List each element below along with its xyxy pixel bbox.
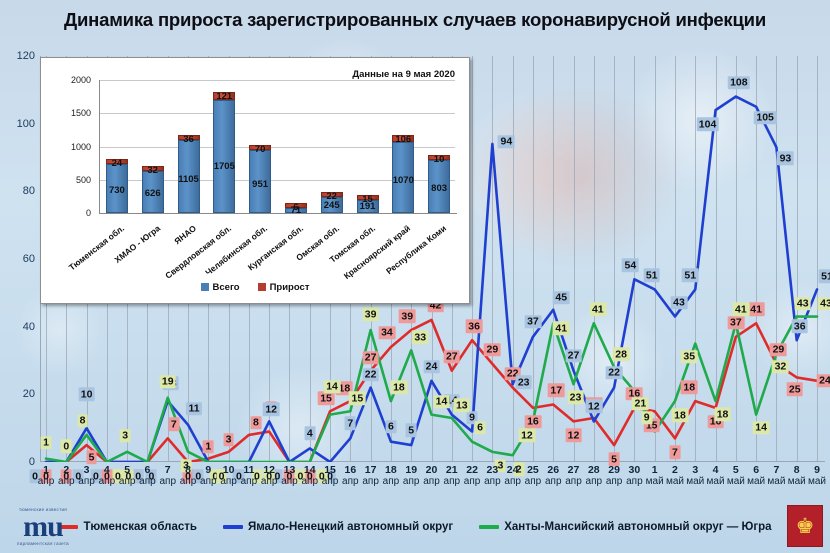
x-tick-day: 20 xyxy=(426,464,438,476)
data-point-label: 43 xyxy=(671,296,688,310)
x-axis-tick: 2май xyxy=(666,464,684,488)
logo-bottom-text: парламентская газета xyxy=(17,542,69,547)
x-tick-month: апр xyxy=(383,476,400,488)
x-axis-tick: 4апр xyxy=(99,464,116,488)
inset-legend-item: Всего xyxy=(201,282,240,293)
inset-y-axis-tick: 1000 xyxy=(41,142,91,152)
data-point-label: 23 xyxy=(567,390,584,404)
x-tick-day: 19 xyxy=(405,464,417,476)
x-tick-month: апр xyxy=(464,476,481,488)
data-point-label: 6 xyxy=(385,420,396,434)
x-axis-tick: 19апр xyxy=(403,464,420,488)
x-tick-month: апр xyxy=(38,476,55,488)
x-tick-month: апр xyxy=(58,476,75,488)
x-tick-month: май xyxy=(767,476,785,488)
data-point-label: 25 xyxy=(786,383,803,397)
inset-bar-group xyxy=(357,80,379,213)
x-tick-day: 21 xyxy=(446,464,458,476)
data-point-label: 24 xyxy=(423,360,440,374)
x-tick-month: апр xyxy=(362,476,379,488)
x-tick-day: 2 xyxy=(63,464,69,476)
x-axis-tick: 9апр xyxy=(200,464,217,488)
x-tick-day: 25 xyxy=(527,464,539,476)
data-point-label: 45 xyxy=(553,291,570,305)
inset-bar-group xyxy=(285,80,307,213)
crest-glyph: ♚ xyxy=(796,516,815,537)
bar-total xyxy=(213,100,235,213)
x-tick-day: 11 xyxy=(243,464,254,476)
x-tick-month: апр xyxy=(99,476,116,488)
bar-increase-value: 121 xyxy=(216,91,232,102)
data-point-label: 8 xyxy=(250,416,261,430)
x-axis-tick: 8апр xyxy=(180,464,197,488)
data-point-label: 21 xyxy=(632,397,649,411)
coat-of-arms-icon: ♚ xyxy=(787,505,823,547)
data-point-label: 1 xyxy=(41,436,52,450)
y-axis-tick: 60 xyxy=(23,253,35,265)
data-point-label: 16 xyxy=(525,415,542,429)
x-tick-month: апр xyxy=(423,476,440,488)
x-tick-day: 8 xyxy=(794,464,800,476)
legend-color-swatch xyxy=(223,525,243,529)
data-point-label: 7 xyxy=(670,446,681,460)
x-tick-day: 22 xyxy=(466,464,478,476)
x-axis-tick: 11апр xyxy=(241,464,258,488)
data-point-label: 37 xyxy=(727,316,744,330)
inset-y-axis-tick: 2000 xyxy=(41,75,91,85)
x-axis-tick: 29апр xyxy=(606,464,623,488)
inset-bar-chart: Данные на 9 мая 2020 0500100015002000730… xyxy=(40,57,470,304)
x-tick-month: апр xyxy=(484,476,501,488)
legend-item: Ханты-Мансийский автономный округ — Югра xyxy=(479,521,771,533)
data-point-label: 54 xyxy=(622,259,639,273)
x-tick-day: 13 xyxy=(284,464,296,476)
x-tick-day: 18 xyxy=(385,464,397,476)
x-tick-day: 6 xyxy=(753,464,759,476)
x-tick-day: 6 xyxy=(145,464,151,476)
logo-tyumenskie-izvestiya: тюменские известия mu парламентская газе… xyxy=(6,504,80,550)
x-tick-day: 29 xyxy=(608,464,620,476)
data-point-label: 108 xyxy=(728,76,751,90)
y-axis-tick: 120 xyxy=(17,50,35,62)
x-tick-month: апр xyxy=(586,476,603,488)
y-axis-tick: 20 xyxy=(23,388,35,400)
x-tick-day: 30 xyxy=(629,464,641,476)
data-point-label: 22 xyxy=(606,366,623,380)
x-tick-day: 23 xyxy=(487,464,499,476)
data-point-label: 0 xyxy=(61,439,72,453)
x-axis-tick: 6май xyxy=(747,464,765,488)
x-tick-month: апр xyxy=(444,476,461,488)
data-point-label: 5 xyxy=(86,450,97,464)
data-point-label: 32 xyxy=(772,360,789,374)
data-point-label: 93 xyxy=(777,152,794,166)
legend-swatch xyxy=(201,283,209,291)
x-axis-tick: 18апр xyxy=(383,464,400,488)
x-tick-day: 24 xyxy=(507,464,519,476)
data-point-label: 27 xyxy=(362,351,379,365)
y-axis-tick: 40 xyxy=(23,321,35,333)
inset-bar-group xyxy=(392,80,414,213)
data-point-label: 41 xyxy=(589,303,606,317)
data-point-label: 51 xyxy=(643,269,660,283)
x-tick-day: 10 xyxy=(223,464,235,476)
x-tick-day: 9 xyxy=(205,464,211,476)
x-axis-tick: 12апр xyxy=(261,464,278,488)
bar-total-value: 951 xyxy=(252,179,268,190)
data-point-label: 19 xyxy=(159,375,176,389)
x-axis-tick: 22апр xyxy=(464,464,481,488)
data-point-label: 3 xyxy=(223,433,234,447)
data-point-label: 27 xyxy=(443,350,460,364)
page-title-bar: Динамика прироста зарегистрированных слу… xyxy=(0,0,830,40)
data-point-label: 43 xyxy=(794,297,811,311)
x-tick-day: 5 xyxy=(124,464,130,476)
data-point-label: 41 xyxy=(553,322,570,336)
legend-label: Тюменская область xyxy=(83,521,196,533)
legend-label: Ханты-Мансийский автономный округ — Югра xyxy=(504,521,771,533)
bar-total-value: 730 xyxy=(109,185,125,196)
data-point-label: 39 xyxy=(362,307,379,321)
bar-total-value: 626 xyxy=(145,188,161,199)
page-title: Динамика прироста зарегистрированных слу… xyxy=(64,9,766,31)
data-point-label: 39 xyxy=(399,309,416,323)
x-tick-month: апр xyxy=(281,476,298,488)
x-tick-month: апр xyxy=(525,476,542,488)
data-point-label: 13 xyxy=(453,398,470,412)
data-point-label: 11 xyxy=(186,402,202,416)
legend-item: Ямало-Ненецкий автономный округ xyxy=(223,521,453,533)
x-tick-day: 27 xyxy=(568,464,580,476)
x-axis-tick: 16апр xyxy=(342,464,359,488)
data-point-label: 36 xyxy=(466,319,483,333)
x-axis-tick: 4май xyxy=(707,464,725,488)
inset-y-axis-line xyxy=(99,80,100,213)
x-tick-month: апр xyxy=(159,476,176,488)
inset-legend-item: Прирост xyxy=(258,282,310,293)
data-point-label: 41 xyxy=(732,303,749,317)
inset-y-axis-tick: 1500 xyxy=(41,108,91,118)
data-point-label: 12 xyxy=(565,429,582,443)
x-tick-month: май xyxy=(747,476,765,488)
data-point-label: 43 xyxy=(818,297,830,311)
x-axis-tick: 5апр xyxy=(119,464,136,488)
x-tick-month: апр xyxy=(342,476,359,488)
data-point-label: 5 xyxy=(406,423,417,437)
x-axis-tick: 3апр xyxy=(78,464,95,488)
bar-increase-value: 6 xyxy=(293,202,298,213)
bar-increase-value: 32 xyxy=(147,165,158,176)
x-tick-month: апр xyxy=(180,476,197,488)
x-axis-tick: 7май xyxy=(767,464,785,488)
data-point-label: 28 xyxy=(613,348,630,362)
x-tick-day: 28 xyxy=(588,464,600,476)
x-axis-tick: 7апр xyxy=(159,464,176,488)
data-point-label: 7 xyxy=(345,417,356,431)
bar-increase-value: 10 xyxy=(434,154,445,165)
data-point-label: 7 xyxy=(168,418,179,432)
x-axis-tick: 27апр xyxy=(565,464,582,488)
data-point-label: 35 xyxy=(681,350,698,364)
x-tick-day: 4 xyxy=(104,464,110,476)
x-tick-month: апр xyxy=(626,476,643,488)
data-point-label: 14 xyxy=(753,421,770,435)
x-axis-tick: 2апр xyxy=(58,464,75,488)
data-point-label: 18 xyxy=(714,407,731,421)
data-point-label: 27 xyxy=(565,349,582,363)
data-point-label: 29 xyxy=(484,343,501,357)
data-point-label: 104 xyxy=(696,117,719,131)
x-tick-month: апр xyxy=(200,476,217,488)
bar-total-value: 803 xyxy=(431,183,447,194)
data-point-label: 23 xyxy=(515,375,532,389)
inset-x-axis-line xyxy=(99,213,457,214)
x-axis-tick: 24апр xyxy=(504,464,521,488)
x-tick-day: 2 xyxy=(672,464,678,476)
x-axis-tick: 6апр xyxy=(139,464,156,488)
chart-legend: Тюменская областьЯмало-Ненецкий автономн… xyxy=(0,501,830,553)
x-tick-month: апр xyxy=(322,476,339,488)
inset-bar-group xyxy=(178,80,200,213)
bar-increase-value: 70 xyxy=(255,144,266,155)
x-tick-month: май xyxy=(646,476,664,488)
logo-monogram: mu xyxy=(23,512,63,542)
x-axis-tick: 20апр xyxy=(423,464,440,488)
x-tick-day: 17 xyxy=(365,464,377,476)
x-axis-tick: 30апр xyxy=(626,464,643,488)
data-point-label: 12 xyxy=(519,429,536,443)
x-tick-month: апр xyxy=(403,476,420,488)
data-point-label: 1 xyxy=(203,440,214,454)
x-tick-month: апр xyxy=(545,476,562,488)
data-point-label: 15 xyxy=(318,392,335,406)
x-axis-tick: 26апр xyxy=(545,464,562,488)
x-axis-tick: 17апр xyxy=(362,464,379,488)
x-tick-day: 7 xyxy=(165,464,171,476)
bar-total-value: 1705 xyxy=(214,161,235,172)
x-tick-month: апр xyxy=(78,476,95,488)
x-tick-day: 26 xyxy=(547,464,559,476)
x-tick-month: май xyxy=(707,476,725,488)
x-axis-tick: 3май xyxy=(686,464,704,488)
x-tick-month: май xyxy=(788,476,806,488)
x-tick-day: 12 xyxy=(263,464,275,476)
bar-total-value: 1105 xyxy=(178,174,199,185)
x-axis-tick: 25апр xyxy=(525,464,542,488)
data-point-label: 51 xyxy=(819,270,830,284)
y-axis-tick: 0 xyxy=(29,456,35,468)
y-axis-tick: 80 xyxy=(23,185,35,197)
data-point-label: 10 xyxy=(78,387,95,401)
x-tick-month: апр xyxy=(504,476,521,488)
x-axis-tick: 21апр xyxy=(444,464,461,488)
x-tick-month: апр xyxy=(301,476,318,488)
x-tick-day: 4 xyxy=(713,464,719,476)
data-point-label: 4 xyxy=(304,427,315,441)
data-point-label: 18 xyxy=(672,408,689,422)
x-tick-day: 7 xyxy=(773,464,779,476)
x-tick-day: 3 xyxy=(692,464,698,476)
bar-increase-value: 106 xyxy=(395,134,411,145)
data-point-label: 9 xyxy=(641,411,652,425)
data-point-label: 22 xyxy=(362,368,379,382)
data-point-label: 37 xyxy=(525,315,542,329)
x-tick-day: 1 xyxy=(43,464,49,476)
legend-label: Ямало-Ненецкий автономный округ xyxy=(248,521,453,533)
bar-total-value: 1070 xyxy=(393,175,414,186)
legend-color-swatch xyxy=(479,525,499,529)
data-point-label: 51 xyxy=(682,269,699,283)
x-axis-tick: 1апр xyxy=(38,464,55,488)
data-point-label: 29 xyxy=(770,343,787,357)
data-point-label: 15 xyxy=(349,392,366,406)
data-point-label: 3 xyxy=(120,429,131,443)
x-axis-tick: 28апр xyxy=(586,464,603,488)
data-point-label: 14 xyxy=(433,395,450,409)
data-point-label: 18 xyxy=(391,380,408,394)
x-tick-month: май xyxy=(686,476,704,488)
x-tick-month: апр xyxy=(119,476,136,488)
data-point-label: 8 xyxy=(77,414,88,428)
x-axis-tick: 14апр xyxy=(301,464,318,488)
x-tick-month: апр xyxy=(220,476,237,488)
data-point-label: 34 xyxy=(379,326,396,340)
inset-note: Данные на 9 мая 2020 xyxy=(352,69,455,80)
x-axis-tick: 23апр xyxy=(484,464,501,488)
x-tick-day: 1 xyxy=(652,464,658,476)
x-axis-tick: 5май xyxy=(727,464,745,488)
inset-y-axis-tick: 500 xyxy=(41,175,91,185)
x-tick-day: 15 xyxy=(324,464,336,476)
x-tick-day: 5 xyxy=(733,464,739,476)
data-point-label: 14 xyxy=(324,380,341,394)
data-point-label: 24 xyxy=(817,374,830,388)
inset-legend-label: Прирост xyxy=(270,282,310,293)
inset-legend-label: Всего xyxy=(213,282,240,293)
x-axis-tick: 15апр xyxy=(322,464,339,488)
logo-top-text: тюменские известия xyxy=(19,508,67,513)
data-point-label: 36 xyxy=(791,319,808,333)
x-tick-day: 16 xyxy=(344,464,356,476)
data-point-label: 6 xyxy=(475,421,486,435)
data-point-label: 94 xyxy=(498,135,515,149)
data-point-label: 12 xyxy=(263,403,280,417)
x-tick-month: апр xyxy=(261,476,278,488)
legend-swatch xyxy=(258,283,266,291)
data-point-label: 41 xyxy=(748,303,765,317)
x-tick-month: май xyxy=(808,476,826,488)
data-point-label: 17 xyxy=(548,384,565,398)
x-axis-tick: 8май xyxy=(788,464,806,488)
x-tick-month: апр xyxy=(606,476,623,488)
data-point-label: 12 xyxy=(585,400,602,414)
x-axis-tick: 10апр xyxy=(220,464,237,488)
x-tick-day: 9 xyxy=(814,464,820,476)
bar-increase-value: 22 xyxy=(326,191,337,202)
x-tick-month: апр xyxy=(565,476,582,488)
data-point-label: 105 xyxy=(754,111,777,125)
x-tick-month: апр xyxy=(241,476,258,488)
x-tick-day: 8 xyxy=(185,464,191,476)
y-axis-tick: 100 xyxy=(17,118,35,130)
x-tick-month: май xyxy=(727,476,745,488)
inset-legend: ВсегоПрирост xyxy=(41,282,469,293)
inset-y-axis-tick: 0 xyxy=(41,208,91,218)
x-tick-day: 3 xyxy=(84,464,90,476)
data-point-label: 18 xyxy=(681,380,698,394)
x-tick-day: 14 xyxy=(304,464,316,476)
bar-increase-value: 24 xyxy=(112,158,123,169)
x-axis-tick: 9май xyxy=(808,464,826,488)
bar-increase-value: 15 xyxy=(362,194,373,205)
x-tick-month: апр xyxy=(139,476,156,488)
bar-increase-value: 36 xyxy=(183,134,194,145)
data-point-label: 33 xyxy=(412,331,429,345)
x-axis-tick: 13апр xyxy=(281,464,298,488)
x-tick-month: май xyxy=(666,476,684,488)
x-axis-tick: 1май xyxy=(646,464,664,488)
line-series xyxy=(46,320,817,462)
